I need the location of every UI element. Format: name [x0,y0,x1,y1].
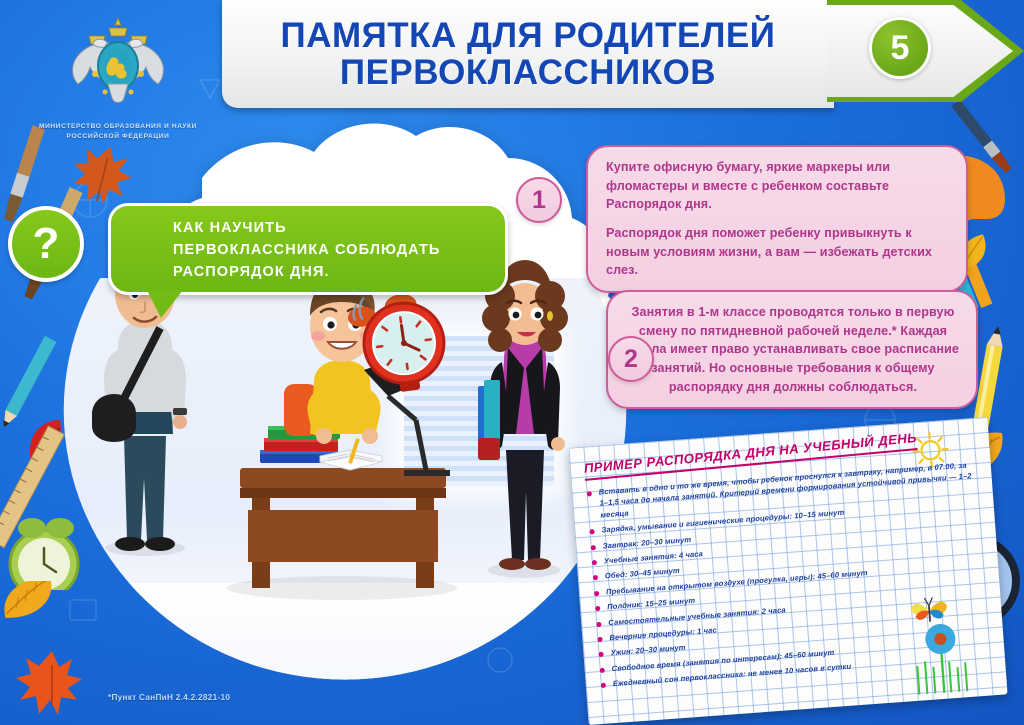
callout-1-paragraph-2: Распорядок дня поможет ребенку привыкнут… [606,224,950,280]
schedule-sheet: ПРИМЕР РАСПОРЯДКА ДНЯ НА УЧЕБНЫЙ ДЕНЬ Вс… [568,417,1007,725]
page-title-line-2: ПЕРВОКЛАССНИКОВ [340,54,716,91]
question-speech-bubble: КАК НАУЧИТЬ ПЕРВОКЛАССНИКА СОБЛЮДАТЬ РАС… [108,203,508,295]
question-line-1: КАК НАУЧИТЬ [173,217,491,239]
orange-autumn-leaf-icon [0,581,55,619]
callout-number-1: 1 [516,177,562,223]
flower-doodle-icon [906,617,977,696]
colored-pencil-icon [0,336,56,430]
question-mark-icon: ? [8,206,84,282]
title-plate: ПАМЯТКА ДЛЯ РОДИТЕЛЕЙ ПЕРВОКЛАССНИКОВ [222,0,834,108]
callout-2-paragraph-1: Занятия в 1-м классе проводятся только в… [626,303,960,396]
question-line-2: ПЕРВОКЛАССНИКА СОБЛЮДАТЬ [173,239,491,261]
callout-number-2: 2 [608,336,654,382]
header-band: ПАМЯТКА ДЛЯ РОДИТЕЛЕЙ ПЕРВОКЛАССНИКОВ 5 [222,0,1024,112]
section-number-badge: 5 [827,0,1024,102]
poster-canvas: МИНИСТЕРСТВО ОБРАЗОВАНИЯ И НАУКИ РОССИЙС… [0,0,1024,725]
callout-box-2: Занятия в 1-м классе проводятся только в… [606,290,978,409]
footnote-sanpin: *Пункт СанПиН 2.4.2.2821-10 [108,693,230,702]
russia-double-headed-eagle-emblem-icon [63,14,173,118]
mother-figure [478,260,568,578]
desk [227,468,457,600]
question-line-3: РАСПОРЯДОК ДНЯ. [173,261,491,283]
callout-1-paragraph-1: Купите офисную бумагу, яркие маркеры или… [606,158,950,214]
page-title-line-1: ПАМЯТКА ДЛЯ РОДИТЕЛЕЙ [281,17,776,54]
books-in-hand [478,380,500,460]
badge-number: 5 [869,17,931,79]
speech-bubble-tail [147,290,183,318]
callout-box-1: Купите офисную бумагу, яркие маркеры или… [586,145,968,293]
